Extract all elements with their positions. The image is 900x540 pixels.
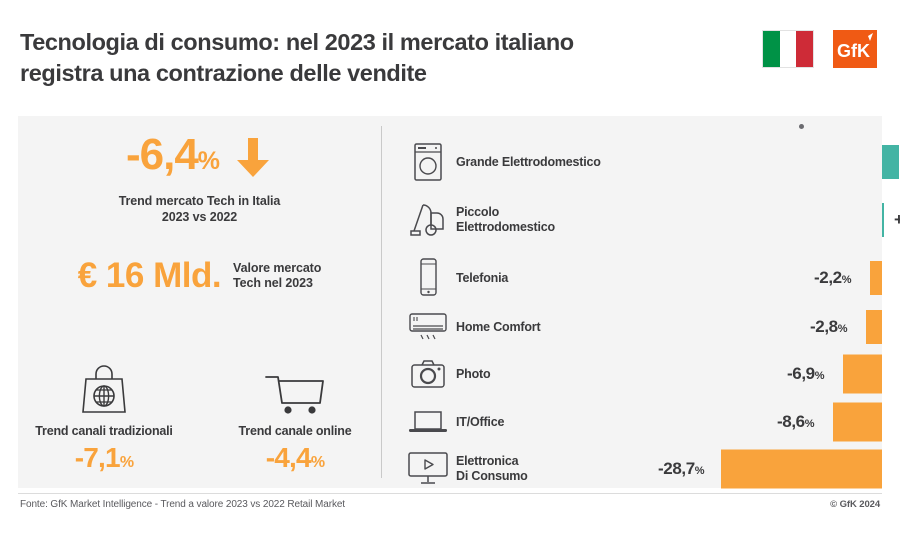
bar-value-number: -6,9 [787, 364, 815, 383]
category-label-line1: Home Comfort [456, 320, 606, 335]
market-value-amount: € 16 Mld. [78, 256, 221, 296]
category-label: Telefonia [456, 271, 606, 286]
page-title: Tecnologia di consumo: nel 2023 il merca… [20, 27, 740, 89]
headline-stat-value: -6,4% [126, 130, 219, 186]
channel-online: Trend canale online -4,4% [213, 346, 378, 479]
panel-divider [381, 126, 382, 478]
channel-traditional-caption: Trend canali tradizionali [22, 424, 187, 438]
channel-online-number: -4,4 [266, 442, 311, 473]
table-row: Grande Elettrodomestico +3% [400, 136, 882, 188]
bar-area: +0,3% [606, 194, 882, 246]
category-bar-chart: Grande Elettrodomestico +3% [400, 116, 882, 488]
market-value-caption: Valore mercato Tech nel 2023 [233, 261, 321, 291]
channel-traditional-percent: % [120, 454, 133, 471]
footer-source: Fonte: GfK Market Intelligence - Trend a… [20, 499, 345, 510]
page-title-line2: registra una contrazione delle vendite [20, 58, 740, 89]
bar-value-percent: % [815, 370, 824, 382]
headline-caption-line2: 2023 vs 2022 [18, 209, 381, 225]
bar-value-label: -6,9% [787, 364, 824, 384]
bar-area: -6,9% [606, 348, 882, 400]
category-label-line1: Elettronica [456, 454, 606, 469]
shopping-cart-icon [213, 346, 378, 418]
channel-trends: Trend canali tradizionali -7,1% Trend ca… [18, 346, 381, 479]
footer-divider [18, 493, 882, 494]
channel-online-percent: % [311, 454, 324, 471]
air-conditioner-icon [400, 310, 456, 344]
arrow-down-icon [233, 136, 273, 180]
chart-top-dot [799, 124, 804, 129]
table-row: Home Comfort -2,8% [400, 301, 882, 353]
channel-online-caption: Trend canale online [213, 424, 378, 438]
channel-traditional-value: -7,1% [22, 442, 187, 479]
table-row: Photo -6,9% [400, 348, 882, 400]
bar-area: -2,8% [606, 301, 882, 353]
bar-telefonia [870, 261, 882, 295]
bar-it-office [833, 403, 882, 442]
category-label-line1: IT/Office [456, 415, 606, 430]
channel-online-value: -4,4% [213, 442, 378, 479]
channel-traditional-number: -7,1 [75, 442, 120, 473]
bar-area: +3% [606, 136, 882, 188]
bar-area: -2,2% [606, 252, 882, 304]
table-row: Telefonia -2,2% [400, 252, 882, 304]
italian-flag-icon [762, 30, 814, 68]
category-label: Home Comfort [456, 320, 606, 335]
channel-traditional: Trend canali tradizionali -7,1% [22, 346, 187, 479]
footer-copyright: © GfK 2024 [830, 499, 880, 510]
headline-stat-caption: Trend mercato Tech in Italia 2023 vs 202… [18, 193, 381, 225]
bar-value-number: +0,3 [894, 210, 900, 229]
market-caption-line2: Tech nel 2023 [233, 276, 321, 291]
header: Tecnologia di consumo: nel 2023 il merca… [0, 0, 900, 112]
bar-value-percent: % [805, 418, 814, 430]
headline-caption-line1: Trend mercato Tech in Italia [18, 193, 381, 209]
bar-grande-elettrodomestico [882, 145, 899, 179]
category-label-line1: Telefonia [456, 271, 606, 286]
smartphone-icon [400, 257, 456, 299]
laptop-icon [400, 407, 456, 437]
shopping-bag-globe-icon [22, 346, 187, 418]
bar-value-percent: % [695, 465, 704, 477]
bar-value-label: +0,3% [894, 210, 900, 230]
svg-text:GfK: GfK [837, 41, 870, 61]
washing-machine-icon [400, 141, 456, 183]
category-label-line2: Elettrodomestico [456, 220, 606, 235]
category-label: Piccolo Elettrodomestico [456, 205, 606, 235]
bar-value-label: -2,2% [814, 268, 851, 288]
bar-home-comfort [866, 310, 882, 344]
bar-value-label: -2,8% [810, 317, 847, 337]
market-value-stat: € 16 Mld. Valore mercato Tech nel 2023 [18, 256, 381, 296]
table-row: Elettronica Di Consumo -28,7% [400, 443, 882, 495]
bar-value-number: -2,2 [814, 268, 842, 287]
category-label: Grande Elettrodomestico [456, 155, 606, 170]
camera-icon [400, 357, 456, 391]
category-label-line1: Piccolo [456, 205, 606, 220]
category-label-line2: Di Consumo [456, 469, 606, 484]
bar-value-percent: % [842, 274, 851, 286]
headline-stat-number: -6,4 [126, 130, 198, 179]
bar-photo [843, 355, 882, 394]
category-label: Elettronica Di Consumo [456, 454, 606, 484]
flag-stripe-white [780, 31, 797, 67]
market-caption-line1: Valore mercato [233, 261, 321, 276]
headline-stat-percent: % [198, 147, 219, 175]
flag-stripe-green [763, 31, 780, 67]
gfk-logo: GfK [833, 30, 877, 68]
bar-area: -28,7% [606, 443, 882, 495]
tv-monitor-play-icon [400, 450, 456, 488]
bar-piccolo-elettrodomestico [882, 203, 884, 237]
left-summary-panel: -6,4% Trend mercato Tech in Italia 2023 … [18, 116, 381, 488]
headline-stat: -6,4% Trend mercato Tech in Italia 2023 … [18, 130, 381, 225]
category-label: Photo [456, 367, 606, 382]
bar-area: -8,6% [606, 396, 882, 448]
bar-value-number: -8,6 [777, 412, 805, 431]
bar-value-label: -28,7% [658, 459, 704, 479]
flag-stripe-red [796, 31, 813, 67]
bar-value-percent: % [838, 323, 847, 335]
bar-value-number: -2,8 [810, 317, 838, 336]
bar-value-number: -28,7 [658, 459, 695, 478]
table-row: Piccolo Elettrodomestico +0,3% [400, 194, 882, 246]
bar-value-label: -8,6% [777, 412, 814, 432]
category-label: IT/Office [456, 415, 606, 430]
page-title-line1: Tecnologia di consumo: nel 2023 il merca… [20, 29, 574, 55]
category-label-line1: Photo [456, 367, 606, 382]
table-row: IT/Office -8,6% [400, 396, 882, 448]
category-label-line1: Grande Elettrodomestico [456, 155, 606, 170]
infographic-page: Tecnologia di consumo: nel 2023 il merca… [0, 0, 900, 540]
bar-elettronica-di-consumo [721, 450, 882, 489]
vacuum-cleaner-icon [400, 199, 456, 241]
